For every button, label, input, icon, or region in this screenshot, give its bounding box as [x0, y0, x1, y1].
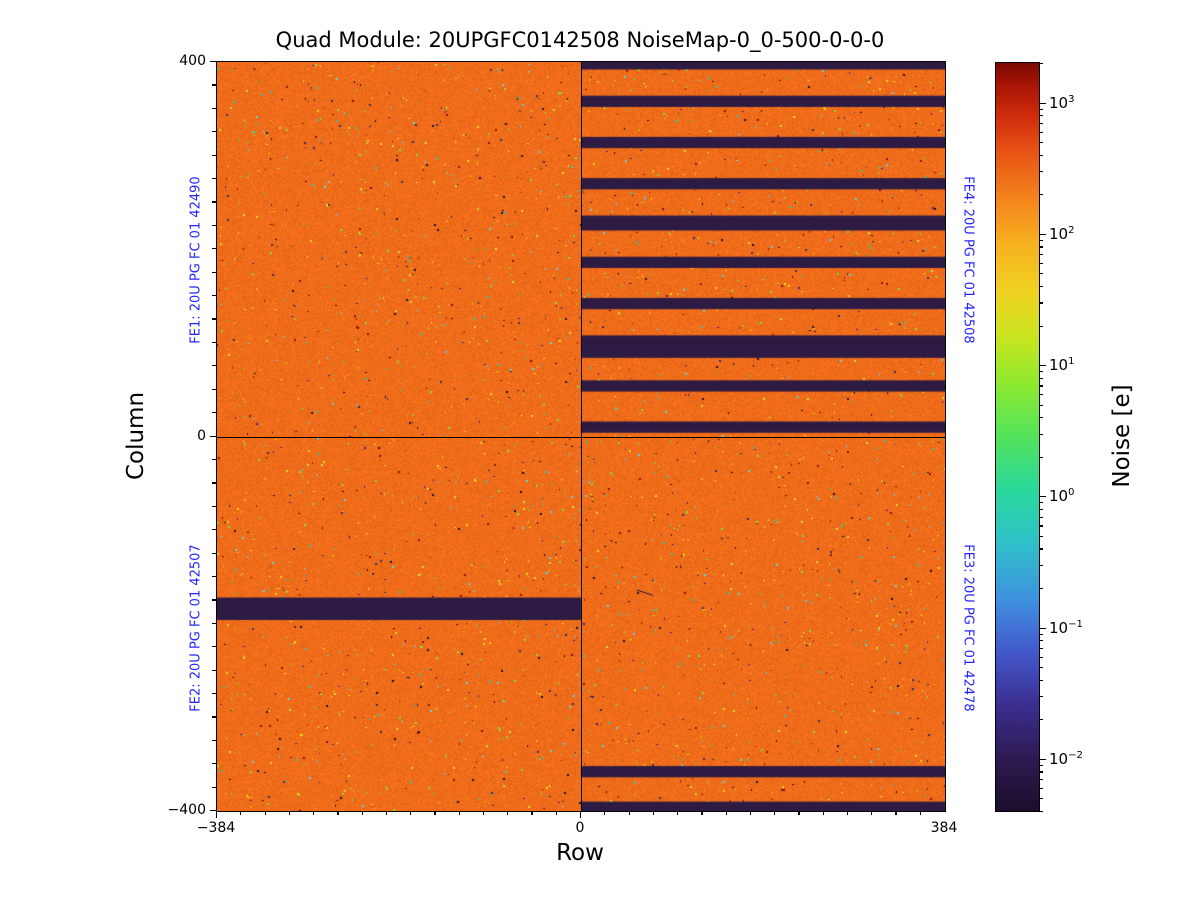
figure-canvas: Quad Module: 20UPGFC0142508 NoiseMap-0_0… [0, 0, 1200, 900]
colorbar-tick-mark [1039, 385, 1043, 386]
y-tick-mark [212, 389, 216, 390]
colorbar-tick-mark [1039, 254, 1043, 255]
y-tick-mark [212, 529, 216, 530]
y-tick-mark [212, 763, 216, 764]
fe-label-fe4: FE4: 20U PG FC 01 42508 [961, 176, 976, 343]
colorbar-tick-mark [1039, 588, 1043, 589]
x-tick-mark [386, 811, 387, 815]
x-tick-mark [337, 811, 338, 815]
y-tick-mark [212, 248, 216, 249]
colorbar-tick-mark [1039, 273, 1043, 274]
x-tick-mark [410, 811, 411, 815]
y-tick-label: 0 [150, 428, 206, 444]
colorbar-tick-mark [1039, 759, 1046, 760]
colorbar-tick-label: 103 [1049, 94, 1074, 112]
colorbar-tick-mark [1039, 123, 1043, 124]
heatmap-axes[interactable] [216, 61, 946, 812]
fe-label-fe3: FE3: 20U PG FC 01 42478 [961, 544, 976, 711]
colorbar-tick-mark [1039, 509, 1043, 510]
y-tick-mark [212, 576, 216, 577]
colorbar-tick-label: 100 [1049, 487, 1074, 505]
x-tick-mark [289, 811, 290, 815]
colorbar-tick-label: 102 [1049, 225, 1074, 243]
colorbar-tick-mark [1039, 640, 1043, 641]
x-tick-mark [362, 811, 363, 815]
colorbar-tick-mark [1039, 109, 1043, 110]
colorbar-tick-mark [1039, 240, 1043, 241]
fe-label-fe1: FE1: 20U PG FC 01 42490 [189, 176, 204, 343]
y-tick-mark [212, 553, 216, 554]
y-tick-mark [212, 155, 216, 156]
colorbar-tick-mark [1039, 194, 1043, 195]
colorbar-tick-mark [1039, 115, 1043, 116]
y-tick-mark [212, 272, 216, 273]
x-tick-mark [240, 811, 241, 815]
y-tick-mark [212, 716, 216, 717]
x-tick-mark [531, 811, 532, 815]
colorbar-tick-mark [1039, 417, 1043, 418]
x-tick-mark [459, 811, 460, 815]
colorbar-tick-mark [1039, 548, 1043, 549]
colorbar-tick-mark [1039, 63, 1043, 64]
y-tick-mark [212, 459, 216, 460]
colorbar-tick-mark [1039, 779, 1043, 780]
fe-label-fe2: FE2: 20U PG FC 01 42507 [189, 544, 204, 711]
y-tick-label: −400 [150, 802, 206, 818]
y-tick-label: 400 [150, 53, 206, 69]
colorbar-tick-mark [1039, 696, 1043, 697]
y-axis-label: Column [123, 392, 149, 480]
colorbar-tick-mark [1039, 155, 1043, 156]
colorbar-tick-label: 10−2 [1049, 750, 1083, 768]
quadrant-divider-horizontal [217, 437, 945, 438]
colorbar-tick-mark [1039, 234, 1046, 235]
x-tick-mark [580, 811, 581, 818]
x-tick-label: 384 [931, 820, 958, 836]
y-tick-mark [212, 225, 216, 226]
y-tick-mark [212, 506, 216, 507]
colorbar-tick-mark [1039, 171, 1043, 172]
colorbar-tick-mark [1039, 132, 1043, 133]
colorbar-label: Noise [e] [1109, 384, 1135, 487]
colorbar-tick-mark [1039, 811, 1043, 812]
y-tick-mark [212, 84, 216, 85]
x-tick-label: −384 [197, 820, 235, 836]
y-tick-mark [212, 108, 216, 109]
x-tick-mark [216, 811, 217, 818]
colorbar-tick-mark [1039, 378, 1043, 379]
colorbar-tick-mark [1039, 765, 1043, 766]
colorbar-tick-mark [1039, 263, 1043, 264]
y-tick-mark [212, 693, 216, 694]
colorbar-tick-mark [1039, 496, 1046, 497]
colorbar-tick-mark [1039, 371, 1043, 372]
x-tick-mark [750, 811, 751, 815]
x-tick-mark [653, 811, 654, 815]
x-tick-mark [726, 811, 727, 815]
colorbar-tick-mark [1039, 771, 1043, 772]
y-tick-mark [210, 436, 217, 437]
page-title: Quad Module: 20UPGFC0142508 NoiseMap-0_0… [216, 28, 944, 52]
y-tick-mark [212, 201, 216, 202]
x-tick-mark [604, 811, 605, 815]
colorbar-tick-mark [1039, 798, 1043, 799]
colorbar-tick-mark [1039, 302, 1043, 303]
x-tick-mark [483, 811, 484, 815]
colorbar-tick-mark [1039, 517, 1043, 518]
x-tick-mark [507, 811, 508, 815]
y-tick-mark [212, 670, 216, 671]
y-tick-mark [212, 412, 216, 413]
colorbar-tick-mark [1039, 648, 1043, 649]
colorbar-tick-mark [1039, 457, 1043, 458]
colorbar-tick-label: 101 [1049, 356, 1074, 374]
y-tick-mark [212, 646, 216, 647]
colorbar-tick-mark [1039, 365, 1046, 366]
x-tick-mark [556, 811, 557, 815]
colorbar-tick-mark [1039, 142, 1043, 143]
y-tick-mark [212, 623, 216, 624]
y-tick-mark [212, 295, 216, 296]
y-tick-mark [212, 131, 216, 132]
colorbar-tick-mark [1039, 628, 1046, 629]
x-tick-mark [313, 811, 314, 815]
y-tick-mark [212, 318, 216, 319]
x-tick-mark [895, 811, 896, 815]
y-tick-mark [212, 599, 216, 600]
colorbar-tick-mark [1039, 103, 1046, 104]
y-tick-mark [212, 342, 216, 343]
colorbar-tick-mark [1039, 246, 1043, 247]
x-tick-label: 0 [576, 820, 585, 836]
colorbar-tick-mark [1039, 634, 1043, 635]
colorbar-tick-mark [1039, 394, 1043, 395]
colorbar-tick-mark [1039, 788, 1043, 789]
colorbar-tick-mark [1039, 326, 1043, 327]
y-tick-mark [210, 61, 217, 62]
colorbar-tick-mark [1039, 502, 1043, 503]
colorbar[interactable]: 10−210−1100101102103 [995, 62, 1040, 812]
colorbar-tick-mark [1039, 667, 1043, 668]
colorbar-tick-mark [1039, 565, 1043, 566]
x-tick-mark [823, 811, 824, 815]
colorbar-tick-mark [1039, 657, 1043, 658]
colorbar-tick-mark [1039, 434, 1043, 435]
x-tick-mark [798, 811, 799, 815]
x-tick-mark [629, 811, 630, 815]
x-tick-mark [774, 811, 775, 815]
x-tick-mark [920, 811, 921, 815]
y-tick-mark [212, 787, 216, 788]
x-tick-mark [677, 811, 678, 815]
y-tick-mark [212, 365, 216, 366]
x-tick-mark [871, 811, 872, 815]
colorbar-tick-mark [1039, 680, 1043, 681]
x-tick-mark [701, 811, 702, 815]
y-tick-mark [212, 740, 216, 741]
colorbar-tick-mark [1039, 286, 1043, 287]
y-tick-mark [212, 178, 216, 179]
x-tick-mark [434, 811, 435, 815]
x-axis-label: Row [556, 840, 604, 866]
x-tick-mark [847, 811, 848, 815]
colorbar-tick-mark [1039, 536, 1043, 537]
x-tick-mark [265, 811, 266, 815]
y-tick-mark [212, 482, 216, 483]
colorbar-tick-label: 10−1 [1049, 619, 1083, 637]
colorbar-tick-mark [1039, 525, 1043, 526]
colorbar-tick-mark [1039, 405, 1043, 406]
colorbar-tick-mark [1039, 719, 1043, 720]
